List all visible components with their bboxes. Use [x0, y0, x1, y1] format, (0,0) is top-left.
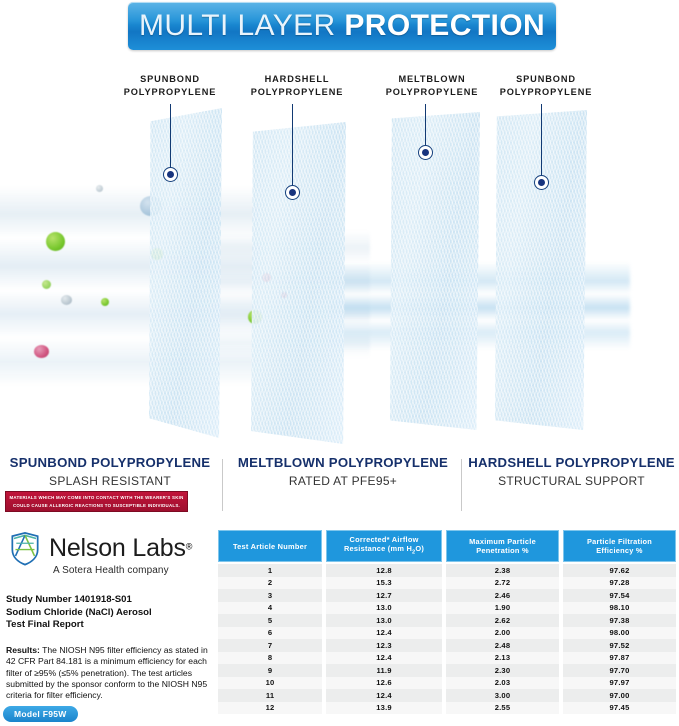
particle-pink-3	[34, 345, 49, 358]
airflow-line2b: O)	[415, 544, 424, 553]
allergy-warning-line1: MATERIALS WHICH MAY COME INTO CONTACT WI…	[9, 494, 183, 502]
layer-label-1-line1: SPUNBOND	[110, 73, 230, 86]
table-cell-airflow: 12.4	[326, 652, 442, 665]
table-cell-test-article: 6	[218, 627, 322, 640]
table-cell-penetration: 1.90	[446, 602, 559, 615]
allergy-warning-line2: COULD CAUSE ALLERGIC REACTIONS TO SUSCEP…	[13, 502, 180, 510]
table-row: 112.82.3897.62	[218, 564, 676, 577]
table-row: 712.32.4897.52	[218, 639, 676, 652]
layer-panel-spunbond-outer	[149, 108, 222, 438]
infographic-page: MULTI LAYER PROTECTION	[0, 0, 679, 726]
table-cell-efficiency: 97.38	[563, 614, 676, 627]
table-cell-efficiency: 97.70	[563, 664, 676, 677]
feature-spunbond: SPUNBOND POLYPROPYLENE SPLASH RESISTANT	[0, 455, 220, 488]
table-cell-efficiency: 97.97	[563, 677, 676, 690]
feature-hardshell-sub: STRUCTURAL SUPPORT	[464, 474, 679, 488]
table-cell-efficiency: 97.00	[563, 689, 676, 702]
layer-label-4-line2: POLYPROPYLENE	[486, 86, 606, 99]
layer-panel-hardshell	[251, 122, 346, 444]
nelson-labs-tagline: A Sotera Health company	[53, 565, 212, 576]
layer-label-3: MELTBLOWN POLYPROPYLENE	[372, 73, 492, 99]
table-cell-penetration: 2.03	[446, 677, 559, 690]
title-bold-part: PROTECTION	[344, 9, 545, 42]
table-body: 112.82.3897.62215.32.7297.28312.72.4697.…	[218, 564, 676, 714]
nelson-labs-wordmark: Nelson Labs®	[49, 534, 192, 563]
table-header-airflow-text: Corrected* Airflow Resistance (mm H2O)	[344, 535, 424, 557]
table-row: 413.01.9098.10	[218, 602, 676, 615]
table-cell-airflow: 12.8	[326, 564, 442, 577]
table-cell-test-article: 11	[218, 689, 322, 702]
table-cell-penetration: 2.00	[446, 627, 559, 640]
leader-line-3	[425, 104, 426, 146]
study-number: Study Number 1401918-S01	[6, 594, 212, 607]
table-cell-airflow: 12.4	[326, 627, 442, 640]
table-cell-efficiency: 98.00	[563, 627, 676, 640]
table-cell-penetration: 3.00	[446, 689, 559, 702]
feature-meltblown: MELTBLOWN POLYPROPYLENE RATED AT PFE95+	[228, 455, 458, 488]
layer-label-1-line2: POLYPROPYLENE	[110, 86, 230, 99]
table-cell-airflow: 13.9	[326, 702, 442, 715]
leader-line-2	[292, 104, 293, 186]
leader-line-4	[541, 104, 542, 176]
leader-line-1	[170, 104, 171, 168]
table-header-efficiency: Particle Filtration Efficiency %	[563, 530, 676, 562]
model-badge: Model F95W	[3, 706, 78, 722]
table-cell-test-article: 7	[218, 639, 322, 652]
table-row: 911.92.3097.70	[218, 664, 676, 677]
table-cell-efficiency: 98.10	[563, 602, 676, 615]
results-paragraph: Results: The NIOSH N95 filter efficiency…	[6, 645, 212, 702]
table-header-row: Test Article Number Corrected* Airflow R…	[218, 530, 676, 562]
table-cell-efficiency: 97.87	[563, 652, 676, 665]
allergy-warning-banner: MATERIALS WHICH MAY COME INTO CONTACT WI…	[5, 491, 188, 512]
title-banner: MULTI LAYER PROTECTION	[128, 2, 556, 50]
layer-label-1: SPUNBOND POLYPROPYLENE	[110, 73, 230, 99]
results-label: Results:	[6, 645, 40, 655]
table-cell-airflow: 12.6	[326, 677, 442, 690]
particle-green-4	[101, 298, 109, 306]
table-cell-airflow: 12.4	[326, 689, 442, 702]
layer-label-4-line1: SPUNBOND	[486, 73, 606, 86]
study-aerosol-type: Sodium Chloride (NaCl) Aerosol	[6, 607, 212, 620]
table-cell-test-article: 2	[218, 577, 322, 590]
feature-spunbond-sub: SPLASH RESISTANT	[0, 474, 220, 488]
table-cell-penetration: 2.13	[446, 652, 559, 665]
particle-green-3	[42, 280, 51, 289]
particle-gray-1	[61, 295, 72, 305]
feature-meltblown-title: MELTBLOWN POLYPROPYLENE	[228, 455, 458, 470]
table-cell-airflow: 12.7	[326, 589, 442, 602]
nelson-labs-block: Nelson Labs® A Sotera Health company Stu…	[6, 529, 212, 702]
layer-label-4: SPUNBOND POLYPROPYLENE	[486, 73, 606, 99]
nelson-labs-registered-mark: ®	[186, 541, 193, 551]
table-cell-airflow: 11.9	[326, 664, 442, 677]
layer-panel-meltblown	[390, 112, 480, 430]
table-cell-test-article: 9	[218, 664, 322, 677]
table-row: 312.72.4697.54	[218, 589, 676, 602]
particle-green-1	[46, 232, 65, 251]
table-cell-test-article: 8	[218, 652, 322, 665]
layer-label-3-line2: POLYPROPYLENE	[372, 86, 492, 99]
layer-label-3-line1: MELTBLOWN	[372, 73, 492, 86]
airflow-line2a: Resistance (mm H	[344, 544, 412, 553]
efficiency-line2: Efficiency %	[596, 546, 643, 555]
layer-label-2: HARDSHELL POLYPROPYLENE	[237, 73, 357, 99]
nelson-labs-shield-icon	[6, 529, 44, 567]
particle-gray-2	[96, 185, 103, 192]
table-header-airflow: Corrected* Airflow Resistance (mm H2O)	[326, 530, 442, 562]
table-cell-efficiency: 97.54	[563, 589, 676, 602]
table-cell-efficiency: 97.45	[563, 702, 676, 715]
layer-label-2-line2: POLYPROPYLENE	[237, 86, 357, 99]
table-header-efficiency-text: Particle Filtration Efficiency %	[587, 537, 652, 555]
feature-divider-2	[461, 459, 462, 511]
table-cell-test-article: 12	[218, 702, 322, 715]
feature-divider-1	[222, 459, 223, 511]
table-cell-efficiency: 97.52	[563, 639, 676, 652]
feature-spunbond-title: SPUNBOND POLYPROPYLENE	[0, 455, 220, 470]
table-header-test-article: Test Article Number	[218, 530, 322, 562]
table-header-penetration: Maximum Particle Penetration %	[446, 530, 559, 562]
airflow-line1: Corrected* Airflow	[349, 535, 418, 544]
table-cell-airflow: 13.0	[326, 602, 442, 615]
table-cell-airflow: 13.0	[326, 614, 442, 627]
penetration-line2: Penetration %	[476, 546, 529, 555]
table-row: 1213.92.5597.45	[218, 702, 676, 715]
table-cell-penetration: 2.30	[446, 664, 559, 677]
test-results-table: Test Article Number Corrected* Airflow R…	[218, 530, 676, 714]
table-cell-test-article: 4	[218, 602, 322, 615]
table-cell-test-article: 10	[218, 677, 322, 690]
table-cell-penetration: 2.46	[446, 589, 559, 602]
table-row: 1012.62.0397.97	[218, 677, 676, 690]
layer-label-2-line1: HARDSHELL	[237, 73, 357, 86]
table-row: 812.42.1397.87	[218, 652, 676, 665]
table-cell-test-article: 3	[218, 589, 322, 602]
layer-dot-2[interactable]	[285, 185, 300, 200]
table-row: 215.32.7297.28	[218, 577, 676, 590]
table-cell-test-article: 5	[218, 614, 322, 627]
table-cell-airflow: 12.3	[326, 639, 442, 652]
nelson-labs-header: Nelson Labs®	[6, 529, 212, 567]
layer-dot-4[interactable]	[534, 175, 549, 190]
study-info: Study Number 1401918-S01 Sodium Chloride…	[6, 594, 212, 632]
table-header-penetration-text: Maximum Particle Penetration %	[469, 537, 536, 555]
table-cell-test-article: 1	[218, 564, 322, 577]
feature-meltblown-sub: RATED AT PFE95+	[228, 474, 458, 488]
table-cell-penetration: 2.38	[446, 564, 559, 577]
table-row: 513.02.6297.38	[218, 614, 676, 627]
layer-dot-3[interactable]	[418, 145, 433, 160]
table-cell-efficiency: 97.62	[563, 564, 676, 577]
table-header-test-article-text: Test Article Number	[233, 542, 307, 551]
nelson-labs-name: Nelson Labs	[49, 534, 186, 562]
table-row: 612.42.0098.00	[218, 627, 676, 640]
table-row: 1112.43.0097.00	[218, 689, 676, 702]
table-cell-penetration: 2.62	[446, 614, 559, 627]
study-report-type: Test Final Report	[6, 619, 212, 632]
layer-dot-1[interactable]	[163, 167, 178, 182]
table-cell-penetration: 2.72	[446, 577, 559, 590]
table-cell-efficiency: 97.28	[563, 577, 676, 590]
page-title: MULTI LAYER PROTECTION	[139, 9, 545, 43]
penetration-line1: Maximum Particle	[469, 537, 536, 546]
title-light-part: MULTI LAYER	[139, 9, 344, 42]
table-cell-penetration: 2.55	[446, 702, 559, 715]
table-cell-airflow: 15.3	[326, 577, 442, 590]
feature-hardshell-title: HARDSHELL POLYPROPYLENE	[464, 455, 679, 470]
efficiency-line1: Particle Filtration	[587, 537, 652, 546]
feature-hardshell: HARDSHELL POLYPROPYLENE STRUCTURAL SUPPO…	[464, 455, 679, 488]
table-cell-penetration: 2.48	[446, 639, 559, 652]
